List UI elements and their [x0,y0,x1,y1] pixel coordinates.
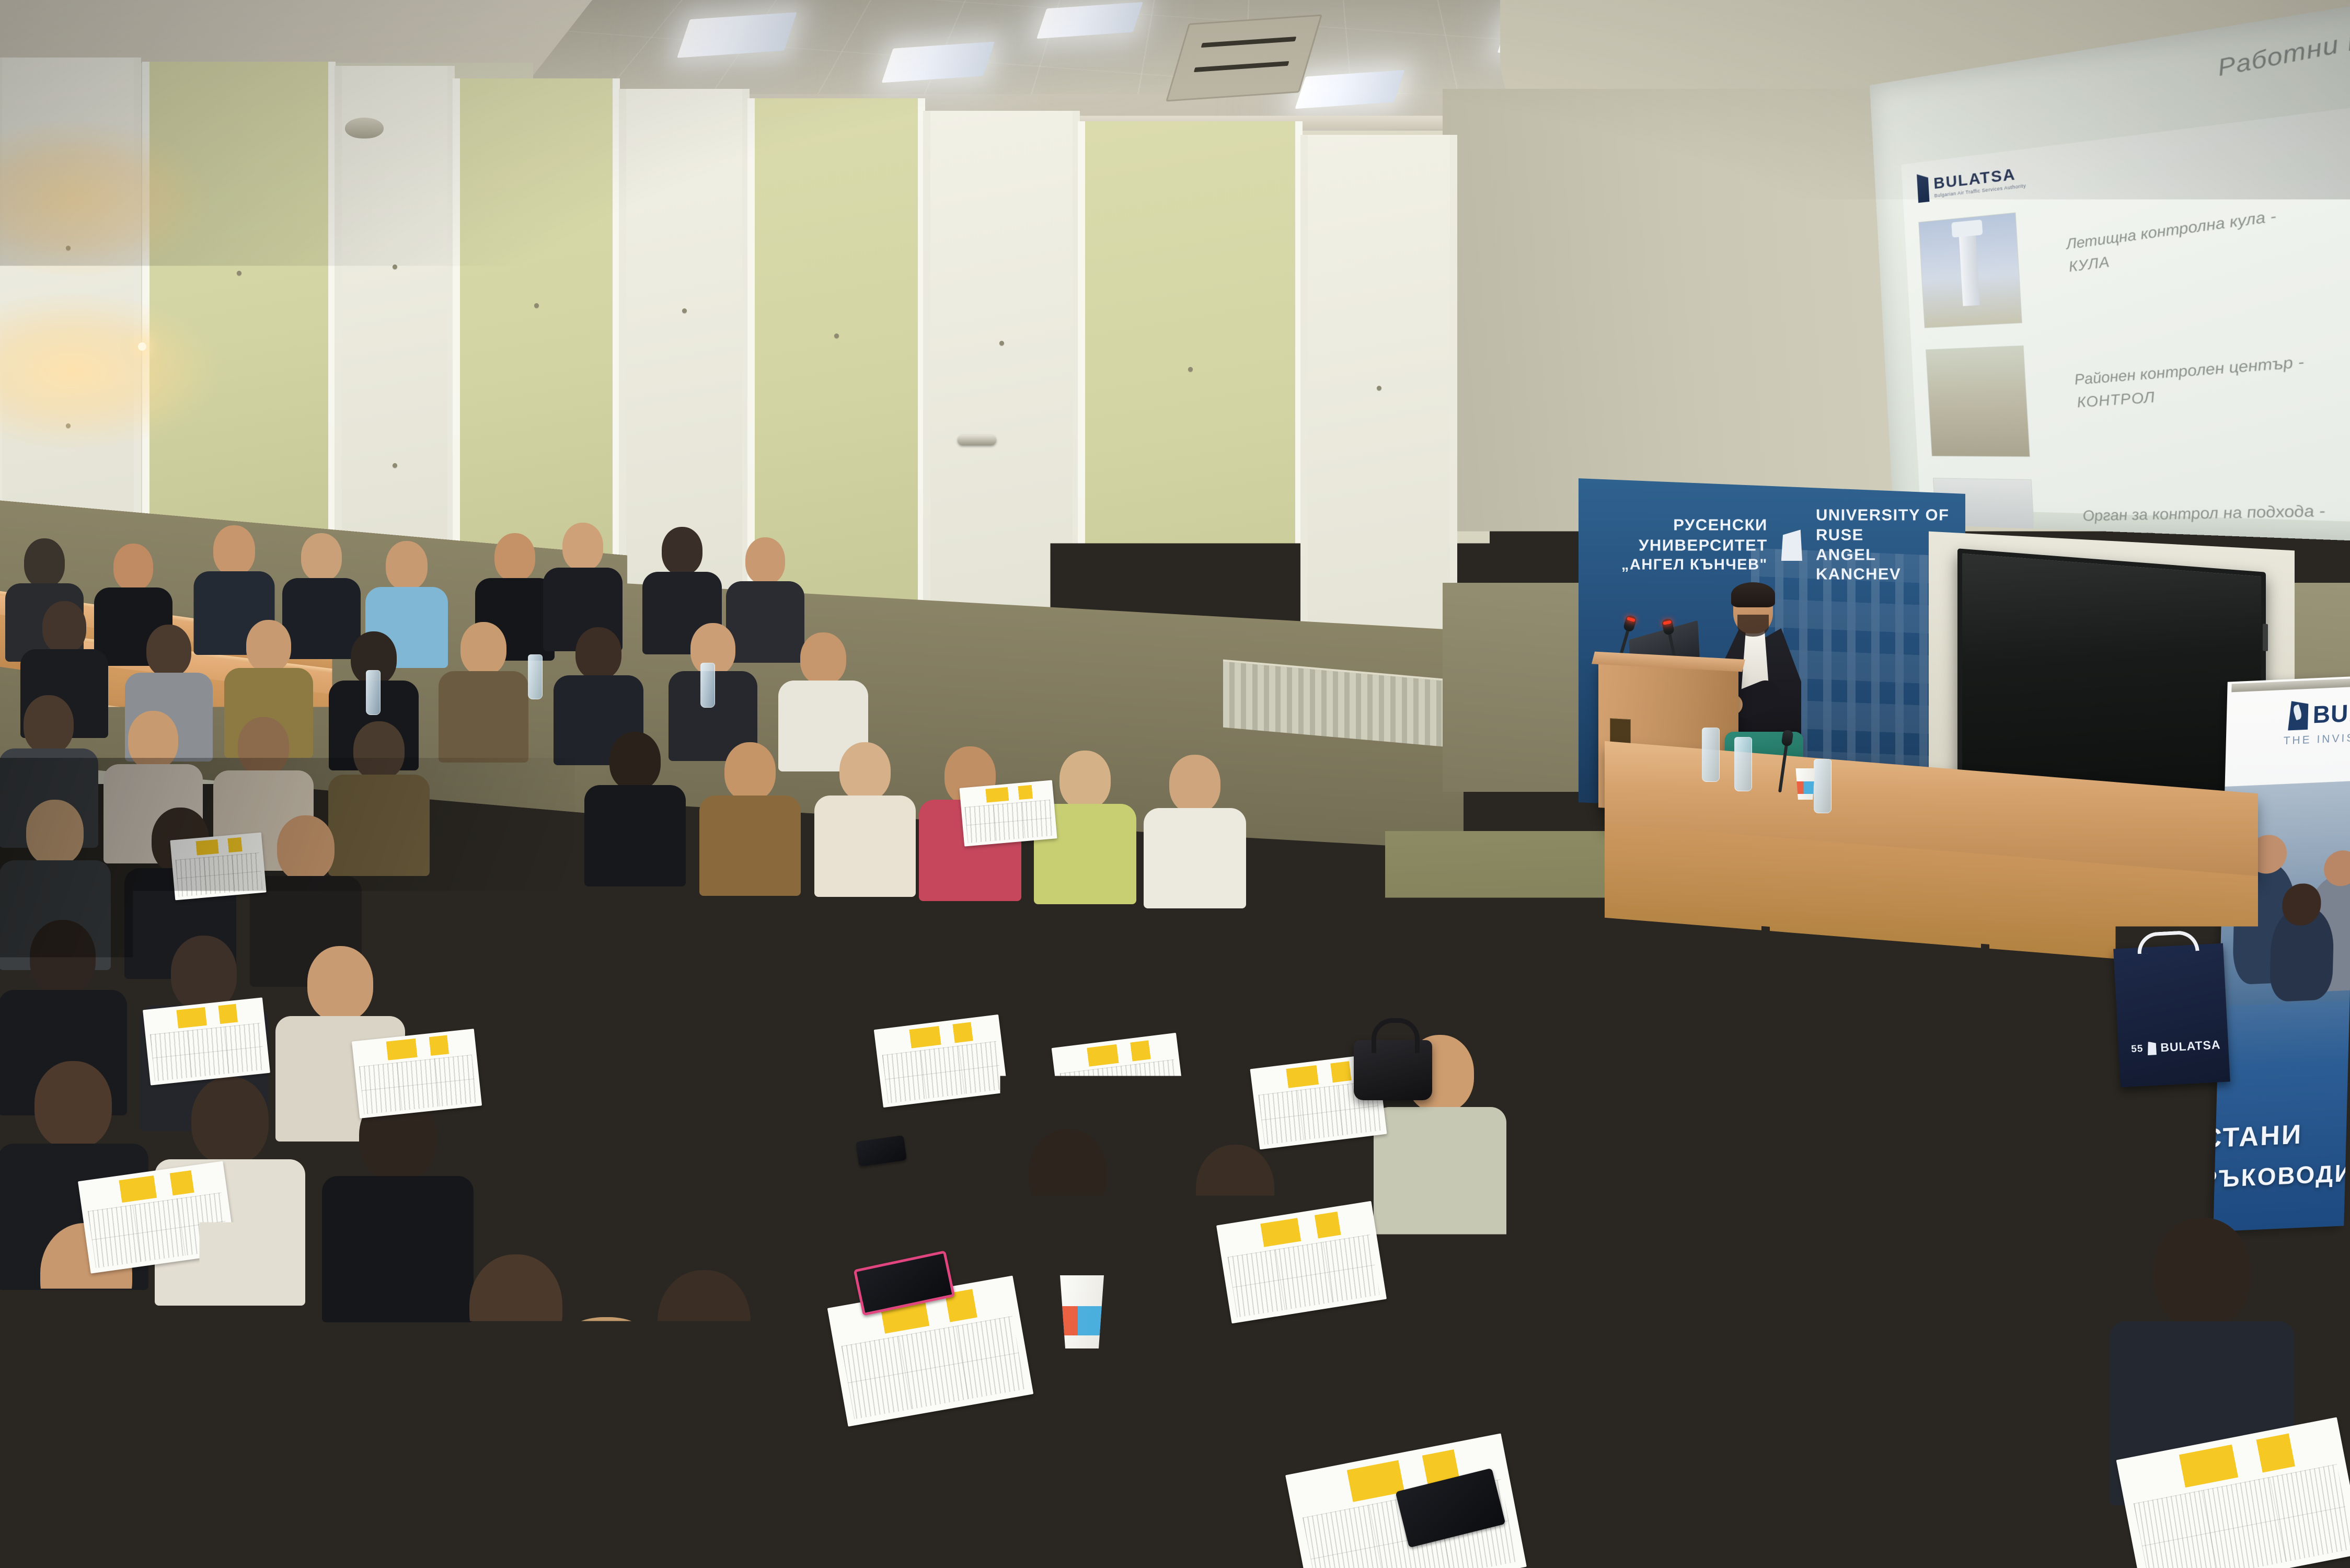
leaflet-6[interactable] [352,1029,482,1119]
attendee-head [1114,661,1160,713]
tote-logo: 55 BULATSA [2131,1037,2221,1056]
slide-body: BULATSA Bulgarian Air Traffic Services A… [1901,101,2350,524]
university-name-bg-line2: „АНГЕЛ КЪНЧЕВ" [1597,556,1768,574]
ceiling-air-vent [1166,14,1322,101]
bulatsa-bird-mark-icon [2288,700,2308,731]
attendee-r2-5 [439,622,528,755]
water-bottle-audience-1[interactable] [366,670,381,715]
attendee-head [839,742,891,801]
attendee-head [1169,755,1220,813]
display-side-button-1[interactable] [2263,624,2268,651]
leaflet-8[interactable] [1052,1033,1186,1127]
water-bottle-audience-4[interactable] [1139,1221,1173,1323]
rollup-right-tagline: THE INVISIBLE [2283,730,2350,747]
attendee-head [1515,1254,1610,1362]
wall-panel-white-1 [0,57,141,528]
rollup-banner-left: BULATSA [1357,566,1405,858]
attendee-head [704,1103,781,1192]
leaflet-1[interactable] [170,833,266,901]
leaflet-comic-panels [176,852,263,897]
attendee-head [609,732,661,790]
wall-spotlight-2 [447,285,456,293]
attendee-head [1814,1411,1971,1568]
lecture-hall-scene: Работни мес BULATSA Bulgarian Air Traffi… [0,0,2350,1568]
attendee-head [32,1338,156,1469]
projection-screen: Работни мес BULATSA Bulgarian Air Traffi… [1870,0,2350,544]
attendee-head [146,625,191,677]
control-tower-icon [1959,229,1980,306]
attendee-head [277,815,335,881]
smoke-detector [345,118,384,139]
table-leg-2 [1981,944,1989,1054]
presenter-beard [1737,615,1769,637]
attendee-front-3 [470,1317,742,1568]
attendee-head [1029,1129,1107,1219]
tote-brand-text: BULATSA [2160,1037,2221,1055]
university-name-bg: РУСЕНСКИ УНИВЕРСИТЕТ „АНГЕЛ КЪНЧЕВ" [1597,515,1768,574]
wall-panel-green-4 [1078,121,1303,670]
leaflet-5[interactable] [143,997,270,1085]
tote-anniversary-number: 55 [2131,1043,2144,1055]
table-leg-1 [1761,926,1770,1036]
attendee-head [575,627,621,679]
water-bottle-audience-3[interactable] [700,663,715,708]
slide-thumbnail-tower [1918,212,2022,328]
attendee-head [460,622,506,675]
attendee-head [307,946,373,1021]
university-banner-header: РУСЕНСКИ УНИВЕРСИТЕТ „АНГЕЛ КЪНЧЕВ" UNIV… [1597,505,1955,584]
leaflet-comic-panels [359,1055,477,1114]
bulatsa-mark-icon [1364,673,1369,686]
leaflet-2[interactable] [525,852,628,925]
attendee-head [238,717,289,776]
wall-panel-green-2 [453,78,620,596]
attendee-head [128,711,178,769]
attendee-body [149,1416,416,1568]
wall-panel-white-4 [923,111,1080,652]
wall-panel-white-2 [335,66,455,562]
attendee-body [1374,1107,1506,1238]
attendee-r4-8 [1181,862,1294,1022]
attendee-head [246,620,291,672]
attendee-head [1772,1066,1851,1157]
leaflet-7[interactable] [874,1014,1008,1108]
attendee-head [533,1317,679,1474]
attendee-head [42,601,86,653]
leaflet-4[interactable] [959,780,1057,846]
slide-bullet-3-label: Орган за контрол на подхода - [2081,498,2326,527]
attendee-head [1015,653,1061,706]
door-handle[interactable] [958,435,996,445]
attendee-head [1017,1390,1168,1552]
attendee-head [711,838,769,905]
rollup-left-logo: BULATSA [1364,672,1403,686]
attendee-head [1323,881,1383,949]
water-bottle-2[interactable] [1734,737,1752,791]
university-name-bg-line1: РУСЕНСКИ УНИВЕРСИТЕТ [1597,515,1768,556]
attendee-head [562,523,603,571]
leaflet-comic-panels [531,873,624,921]
bulatsa-mark-icon [1917,173,1929,203]
attendee-head [30,920,96,995]
attendee-head [745,537,785,584]
bulatsa-mark-icon [2147,1041,2157,1055]
slide-thumbnail-center [1926,345,2030,457]
leaflet-3[interactable] [740,780,836,847]
wall-spotlight-1 [138,342,146,351]
water-bottle-1[interactable] [1702,728,1720,782]
attendee-head [762,972,829,1048]
attendee-head [1059,751,1111,809]
bulatsa-tote-bag[interactable]: 55 BULATSA [2113,943,2230,1088]
rollup-right-logo: BULATSA [2288,695,2350,731]
attendee-head [24,695,74,754]
attendee-head [191,1077,269,1165]
leaflet-comic-panels [882,1041,1002,1103]
water-bottle-audience-2[interactable] [528,654,543,699]
leaflet-comic-panels [965,800,1053,843]
wall-panel-green-1 [142,62,336,548]
attendee-head [626,962,692,1037]
rollup-right-logo-text: BULATSA [2312,696,2350,729]
attendee-head [2153,1218,2251,1328]
attendee-head [34,1061,112,1149]
attendee-head [800,632,846,685]
rollup-left-logo-text: BULATSA [1372,675,1403,684]
slide-bulatsa-logo: BULATSA Bulgarian Air Traffic Services A… [1917,162,2026,203]
attendee-front-5 [1746,1411,2038,1568]
attendee-body [468,1465,745,1568]
rollup-left-top-rail [1355,560,1407,569]
leaflet-comic-panels [745,800,832,843]
attendee-head [213,525,255,575]
attendee-body [439,671,528,763]
university-building-icon [1781,528,1802,561]
leaflet-comic-panels [1059,1059,1180,1122]
leaflet-comic-panels [150,1023,265,1081]
attendee-head [24,538,65,587]
attendee-head [494,533,535,581]
attendee-head [301,533,342,581]
attendee-head [662,527,702,575]
attendee-body [799,858,914,976]
attendee-head [1186,999,1253,1076]
attendee-head [1208,862,1268,930]
slide-bullet-1: Летищна контролна кула - КУЛА [2065,203,2281,278]
attendee-head [910,645,956,698]
attendee-head [113,544,153,591]
attendee-front-2 [152,1275,413,1568]
attendee-head [171,936,237,1011]
water-bottle-3[interactable] [1814,759,1831,813]
attendee-head [353,721,405,780]
slide-bullet-2: Районен контролен център - КОНТРОЛ [2073,349,2309,414]
presenter-hair [1731,582,1775,607]
black-handbag[interactable] [1354,1040,1432,1100]
attendee-head [1093,852,1151,919]
attendee-head [386,541,428,590]
attendee-head [1625,1045,1704,1136]
attendee-body [949,1544,1236,1568]
attendee-front-4 [951,1390,1234,1568]
slide-title: Работни мес [2217,18,2350,82]
attendee-head [26,800,84,866]
